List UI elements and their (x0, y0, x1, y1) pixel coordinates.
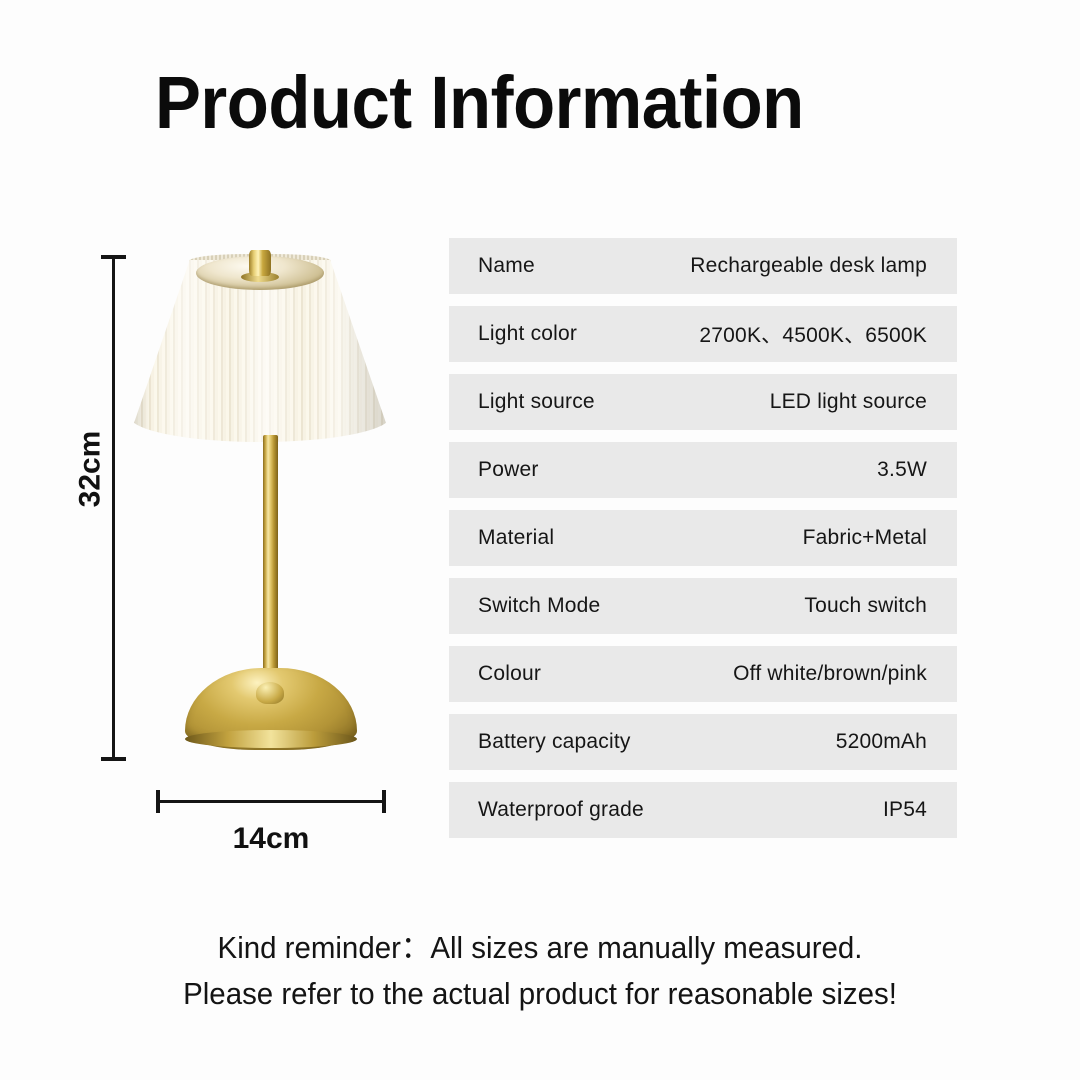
spec-value: 5200mAh (836, 730, 927, 754)
table-row: Switch ModeTouch switch (449, 578, 957, 634)
table-row: Light sourceLED light source (449, 374, 957, 430)
spec-label: Light source (478, 390, 595, 414)
spec-value: Fabric+Metal (803, 526, 927, 550)
lamp-illustration (60, 230, 440, 770)
spec-label: Material (478, 526, 554, 550)
spec-label: Battery capacity (478, 730, 631, 754)
table-row: Waterproof gradeIP54 (449, 782, 957, 838)
spec-label: Switch Mode (478, 594, 600, 618)
width-dimension-cap-left (156, 790, 160, 813)
spec-label: Colour (478, 662, 541, 686)
table-row: MaterialFabric+Metal (449, 510, 957, 566)
spec-value: 3.5W (877, 458, 927, 482)
width-dimension-cap-right (382, 790, 386, 813)
spec-label: Waterproof grade (478, 798, 644, 822)
page-title: Product Information (155, 64, 804, 142)
width-dimension-line (156, 800, 386, 803)
lamp-base-joint (256, 682, 284, 704)
lamp-finial (249, 250, 271, 276)
spec-value: Off white/brown/pink (733, 662, 927, 686)
spec-value: Rechargeable desk lamp (690, 254, 927, 278)
spec-value: IP54 (883, 798, 927, 822)
kind-reminder-line-1: Kind reminder：All sizes are manually mea… (27, 925, 1053, 971)
product-figure: 32cm 14cm (60, 230, 440, 850)
spec-value: 2700K、4500K、6500K (699, 319, 927, 349)
lamp-stem (263, 435, 278, 695)
specification-table: NameRechargeable desk lampLight color270… (449, 238, 957, 850)
width-dimension-label: 14cm (156, 822, 386, 856)
table-row: Light color2700K、4500K、6500K (449, 306, 957, 362)
table-row: ColourOff white/brown/pink (449, 646, 957, 702)
spec-label: Light color (478, 322, 577, 346)
kind-reminder-line-2: Please refer to the actual product for r… (27, 971, 1053, 1017)
lamp-base-rim (185, 730, 357, 748)
table-row: Battery capacity5200mAh (449, 714, 957, 770)
spec-value: Touch switch (804, 594, 927, 618)
kind-reminder-note: Kind reminder：All sizes are manually mea… (0, 925, 1080, 1017)
spec-label: Name (478, 254, 535, 278)
spec-value: LED light source (770, 390, 927, 414)
table-row: Power3.5W (449, 442, 957, 498)
spec-label: Power (478, 458, 539, 482)
table-row: NameRechargeable desk lamp (449, 238, 957, 294)
